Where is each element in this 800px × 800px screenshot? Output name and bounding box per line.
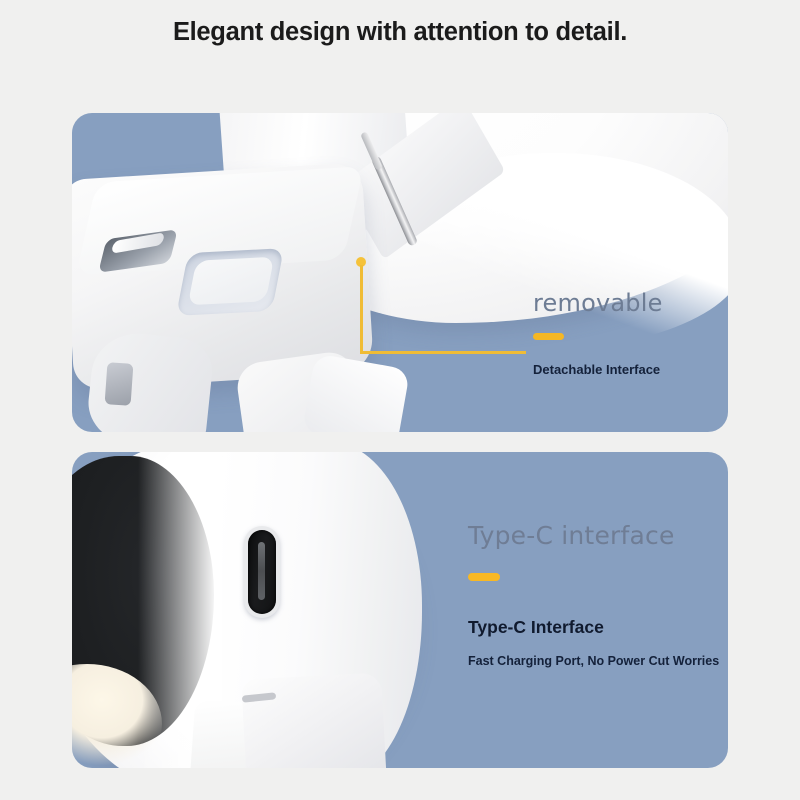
typec-ghost-label: Type-C interface: [468, 521, 719, 550]
typec-text-block: Type-C interface Type-C Interface Fast C…: [468, 521, 719, 668]
callout-leader-vertical: [360, 265, 363, 353]
typec-port-tongue: [258, 542, 265, 600]
callout-leader-horizontal: [360, 351, 526, 354]
typec-subtitle: Fast Charging Port, No Power Cut Worries: [468, 654, 719, 668]
detachable-text-block: removable Detachable Interface: [533, 289, 663, 377]
clamp-cutout-inner: [188, 257, 275, 306]
accent-dash: [533, 333, 564, 340]
page-title: Elegant design with attention to detail.: [0, 18, 800, 47]
typec-title: Type-C Interface: [468, 617, 719, 638]
device-stem-lower: [302, 353, 410, 432]
device-base-hinge: [241, 672, 387, 768]
feature-panel-typec: Type-C interface Type-C Interface Fast C…: [72, 452, 728, 768]
detachable-title: Detachable Interface: [533, 362, 663, 377]
detachable-ghost-label: removable: [533, 289, 663, 317]
accent-dash: [468, 573, 500, 581]
device-notch-detail: [105, 362, 134, 406]
product-feature-page: Elegant design with attention to detail.…: [0, 0, 800, 800]
feature-panel-detachable: removable Detachable Interface: [72, 113, 728, 432]
detachable-clamp-bracket-photo: [72, 113, 728, 432]
